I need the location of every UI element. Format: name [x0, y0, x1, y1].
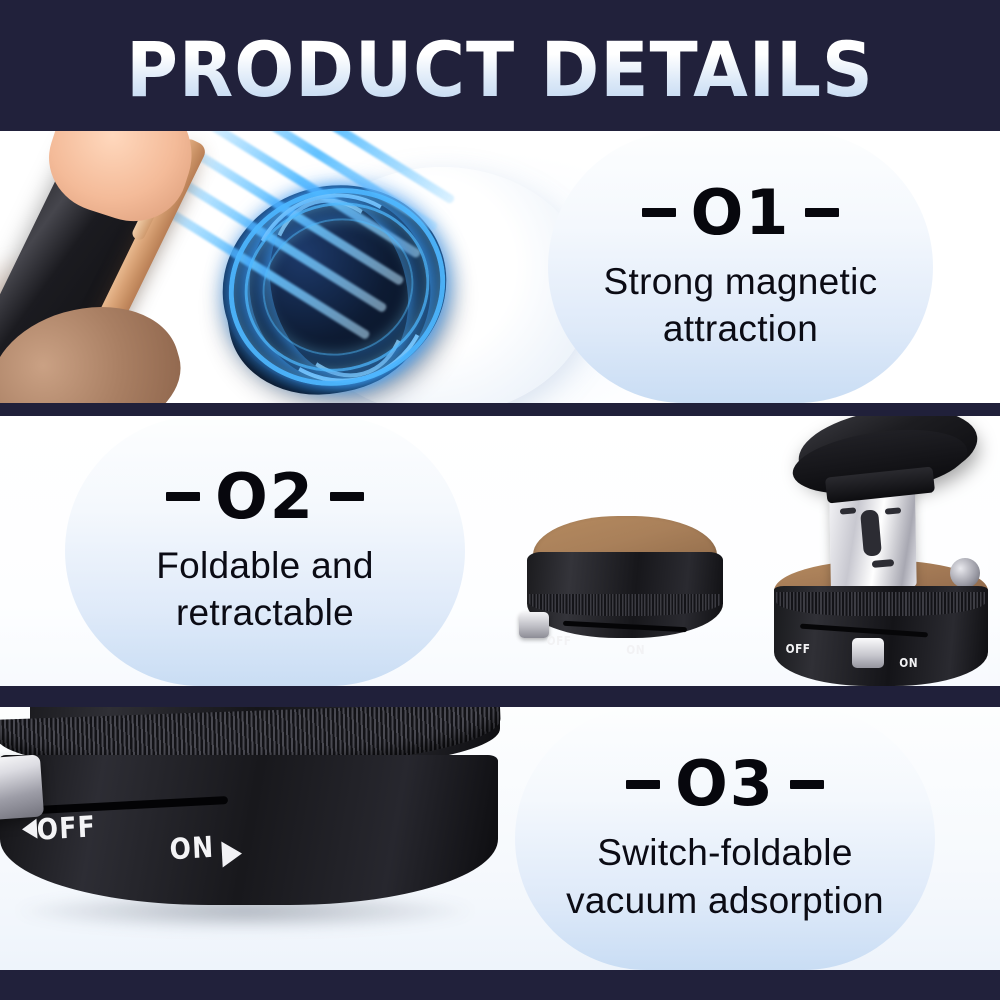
header-banner: PRODUCT DETAILS	[0, 0, 1000, 131]
dash-left-icon	[166, 492, 200, 501]
switch-on-label: ON	[899, 656, 918, 670]
switch-on-label: ON	[169, 830, 215, 867]
hinge-screw	[950, 558, 980, 588]
dash-left-icon	[642, 208, 676, 217]
page-title: PRODUCT DETAILS	[126, 24, 874, 108]
feature-02-caption-line1: Foldable and	[156, 542, 374, 589]
knurled-ring	[529, 594, 721, 616]
dash-right-icon	[805, 208, 839, 217]
feature-01-image	[0, 131, 640, 403]
feature-01-number-line: O1	[642, 182, 840, 244]
switch-on-label: ON	[626, 643, 645, 657]
feature-01-number: O1	[691, 182, 791, 244]
mount-unfolded: OFF ON	[752, 416, 998, 686]
off-arrow-icon	[21, 819, 37, 840]
dash-left-icon	[626, 780, 660, 789]
dash-right-icon	[790, 780, 824, 789]
feature-03-caption-line2: vacuum adsorption	[566, 877, 884, 924]
feature-panel-01: O1 Strong magnetic attraction	[0, 131, 1000, 403]
mount-macro-closeup: OFF ON	[0, 707, 530, 959]
dash-right-icon	[330, 492, 364, 501]
knurled-ring	[776, 592, 986, 616]
feature-03-caption-line1: Switch-foldable	[597, 829, 852, 876]
feature-03-text-card: O3 Switch-foldable vacuum adsorption	[515, 707, 935, 970]
feature-02-caption-line2: retractable	[176, 589, 354, 636]
feature-02-text-card: O2 Foldable and retractable	[65, 416, 465, 686]
feature-01-caption-line1: Strong magnetic	[604, 258, 878, 305]
product-details-infographic: PRODUCT DETAILS	[0, 0, 1000, 1000]
feature-03-number-line: O3	[626, 753, 824, 815]
switch-knob	[852, 638, 884, 668]
feature-01-text-card: O1 Strong magnetic attraction	[548, 131, 933, 403]
switch-off-label: OFF	[36, 809, 97, 847]
feature-panel-02: OFF ON OFF ON	[0, 416, 1000, 686]
feature-03-number: O3	[675, 753, 775, 815]
switch-off-label: OFF	[786, 642, 811, 656]
mount-folded: OFF ON	[527, 516, 723, 656]
switch-knob	[0, 754, 44, 821]
footer-strip	[0, 970, 1000, 1000]
switch-off-label: OFF	[547, 634, 572, 648]
feature-02-number: O2	[215, 466, 315, 528]
feature-01-caption-line2: attraction	[663, 305, 818, 352]
feature-panel-03: OFF ON O3 Switch-foldable vacuum adsorpt…	[0, 707, 1000, 970]
on-arrow-icon	[221, 840, 242, 867]
switch-knob	[519, 612, 549, 638]
feature-02-number-line: O2	[166, 466, 364, 528]
